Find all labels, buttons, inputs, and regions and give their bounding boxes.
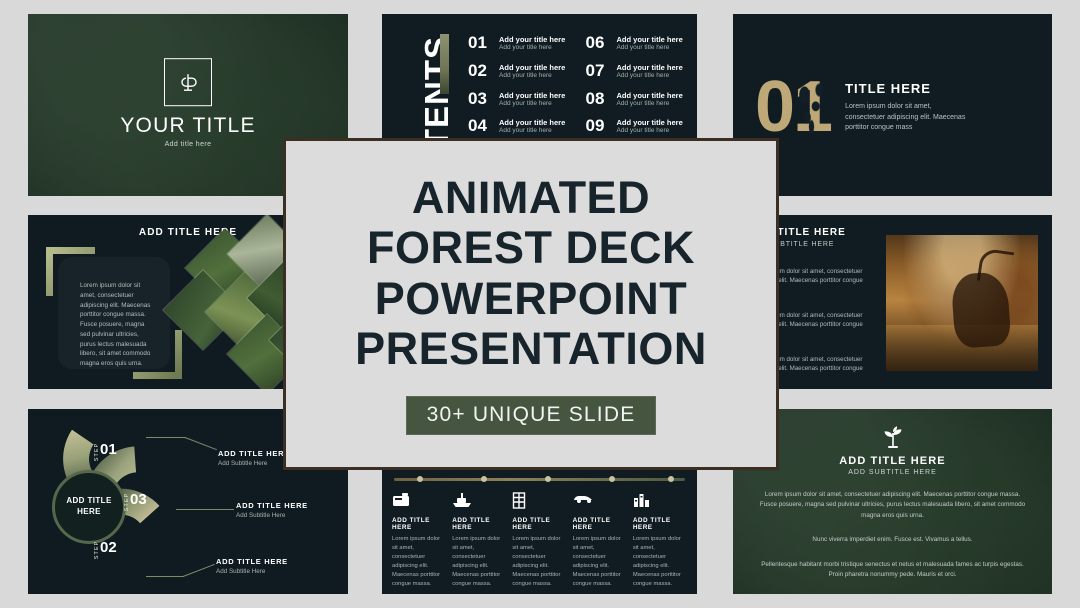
sprout-icon xyxy=(880,425,906,449)
slide-closing[interactable]: ADD TITLE HERE ADD SUBTITLE HERE Lorem i… xyxy=(733,409,1052,594)
monogram-logo-icon xyxy=(164,58,212,106)
deer-photo xyxy=(886,235,1038,371)
slide-body-text: Lorem ipsum dolor sit amet, consectetuer… xyxy=(80,281,156,369)
item-title: Add your title here xyxy=(499,63,565,72)
list-item[interactable]: 02 Add your title here Add your title he… xyxy=(468,62,570,80)
slide-title: ADD TITLE HERE xyxy=(759,455,1026,467)
callout-title: ADD TITLE HERE xyxy=(216,557,288,566)
item-number: 06 xyxy=(586,34,611,51)
step-number: 02 xyxy=(100,539,117,556)
leader-line xyxy=(146,576,184,577)
leader-line xyxy=(185,437,217,450)
center-label: ADD TITLE HERE xyxy=(52,470,126,544)
hero-title: ANIMATED FOREST DECK POWERPOINT PRESENTA… xyxy=(355,173,707,375)
step-callout-1[interactable]: ADD TITLE HERE Add Subtitle Here xyxy=(218,449,290,467)
section-body: Lorem ipsum dolor sit amet, consectetuer… xyxy=(845,102,970,135)
timeline-dot xyxy=(545,476,551,482)
item-number: 03 xyxy=(468,90,493,107)
section-title: TITLE HERE xyxy=(845,81,1036,96)
callout-title: ADD TITLE HERE xyxy=(236,501,308,510)
unique-slide-badge: 30+ UNIQUE SLIDE xyxy=(406,396,657,435)
list-item[interactable]: 09 Add your title here Add your title he… xyxy=(586,117,688,135)
timeline-dot xyxy=(417,476,423,482)
item-title: Add your title here xyxy=(499,118,565,127)
deer-silhouette xyxy=(950,271,1011,349)
leader-line xyxy=(146,437,186,438)
callout-subtitle: Add Subtitle Here xyxy=(216,568,288,575)
item-number: 01 xyxy=(468,34,493,51)
cityscape-icon xyxy=(633,492,687,512)
camera-icon xyxy=(392,492,446,512)
item-subtitle: Add your title here xyxy=(499,100,565,108)
building-icon xyxy=(512,492,566,512)
item-subtitle: Add your title here xyxy=(499,44,565,52)
slide-section-divider[interactable]: 01 TITLE HERE Lorem ipsum dolor sit amet… xyxy=(733,14,1052,196)
hero-title-line-2: FOREST DECK xyxy=(367,222,695,273)
timeline-bar xyxy=(394,478,685,481)
hero-title-line-4: PRESENTATION xyxy=(355,323,707,374)
slide-gallery: YOUR TITLE Add title here NTENTS 01 Add … xyxy=(0,0,1080,608)
list-item[interactable]: 04 Add your title here Add your title he… xyxy=(468,117,570,135)
item-subtitle: Add your title here xyxy=(499,72,565,80)
column-body: Lorem ipsum dolor sit amet, consectetuer… xyxy=(573,535,627,589)
item-number: 02 xyxy=(468,62,493,79)
leader-line xyxy=(176,509,234,510)
slide-icon-columns[interactable]: ADD TITLE HERE Lorem ipsum dolor sit ame… xyxy=(382,470,697,594)
list-item[interactable]: 08 Add your title here Add your title he… xyxy=(586,90,688,108)
hero-title-line-3: POWERPOINT xyxy=(375,273,688,324)
item-subtitle: Add your title here xyxy=(499,127,565,135)
timeline-dot xyxy=(609,476,615,482)
item-number: 04 xyxy=(468,117,493,134)
item-title: Add your title here xyxy=(617,35,683,44)
bracket-text-box: Lorem ipsum dolor sit amet, consectetuer… xyxy=(58,257,170,369)
column-title: ADD TITLE HERE xyxy=(573,517,627,531)
column-title: ADD TITLE HERE xyxy=(633,517,687,531)
item-subtitle: Add your title here xyxy=(617,72,683,80)
item-subtitle: Add your title here xyxy=(617,44,683,52)
accent-bar xyxy=(440,34,449,94)
icon-column[interactable]: ADD TITLE HERE Lorem ipsum dolor sit ame… xyxy=(573,492,627,589)
slide-text-photo[interactable]: ADD TITLE HERE ADD SUBTITLE HERE Lorem i… xyxy=(733,215,1052,389)
step-donut: ADD TITLE HERE STEP 01 STEP 03 STEP 02 xyxy=(42,423,188,581)
callout-subtitle: Add Subtitle Here xyxy=(236,512,308,519)
column-title: ADD TITLE HERE xyxy=(512,517,566,531)
item-subtitle: Add your title here xyxy=(617,100,683,108)
car-icon xyxy=(573,492,627,512)
page-title: YOUR TITLE xyxy=(28,114,348,138)
list-item[interactable]: 06 Add your title here Add your title he… xyxy=(586,34,688,52)
hero-title-line-1: ANIMATED xyxy=(412,172,650,223)
icon-column[interactable]: ADD TITLE HERE Lorem ipsum dolor sit ame… xyxy=(633,492,687,589)
icon-column[interactable]: ADD TITLE HERE Lorem ipsum dolor sit ame… xyxy=(392,492,446,589)
contents-column-left: 01 Add your title here Add your title he… xyxy=(468,34,570,135)
column-body: Lorem ipsum dolor sit amet, consectetuer… xyxy=(452,535,506,589)
column-title: ADD TITLE HERE xyxy=(452,517,506,531)
contents-columns: 01 Add your title here Add your title he… xyxy=(468,34,687,135)
item-title: Add your title here xyxy=(499,35,565,44)
step-callout-3[interactable]: ADD TITLE HERE Add Subtitle Here xyxy=(216,557,288,575)
item-number: 09 xyxy=(586,117,611,134)
column-body: Lorem ipsum dolor sit amet, consectetuer… xyxy=(512,535,566,589)
list-item[interactable]: 07 Add your title here Add your title he… xyxy=(586,62,688,80)
item-title: Add your title here xyxy=(499,91,565,100)
item-title: Add your title here xyxy=(617,118,683,127)
contents-column-right: 06 Add your title here Add your title he… xyxy=(586,34,688,135)
step-number: 03 xyxy=(130,491,147,508)
callout-subtitle: Add Subtitle Here xyxy=(218,460,290,467)
item-title: Add your title here xyxy=(617,91,683,100)
column-body: Lorem ipsum dolor sit amet, consectetuer… xyxy=(633,535,687,589)
step-number: 01 xyxy=(100,441,117,458)
icon-column[interactable]: ADD TITLE HERE Lorem ipsum dolor sit ame… xyxy=(512,492,566,589)
paragraph: Pellentesque habitant morbi tristique se… xyxy=(759,560,1026,581)
list-item[interactable]: 03 Add your title here Add your title he… xyxy=(468,90,570,108)
boat-icon xyxy=(452,492,506,512)
list-item[interactable]: 01 Add your title here Add your title he… xyxy=(468,34,570,52)
center-label-text: ADD TITLE HERE xyxy=(55,496,123,518)
column-body: Lorem ipsum dolor sit amet, consectetuer… xyxy=(392,535,446,589)
paragraph: Lorem ipsum dolor sit amet, consectetuer… xyxy=(759,490,1026,521)
title-block: YOUR TITLE Add title here xyxy=(28,58,348,148)
timeline-dot xyxy=(481,476,487,482)
timeline-dot xyxy=(668,476,674,482)
slide-subtitle: ADD SUBTITLE HERE xyxy=(759,469,1026,476)
section-number: 01 xyxy=(755,78,831,137)
icon-column[interactable]: ADD TITLE HERE Lorem ipsum dolor sit ame… xyxy=(452,492,506,589)
column-title: ADD TITLE HERE xyxy=(392,517,446,531)
item-title: Add your title here xyxy=(617,63,683,72)
item-number: 08 xyxy=(586,90,611,107)
callout-title: ADD TITLE HERE xyxy=(218,449,290,458)
item-subtitle: Add your title here xyxy=(617,127,683,135)
item-number: 07 xyxy=(586,62,611,79)
step-callout-2[interactable]: ADD TITLE HERE Add Subtitle Here xyxy=(236,501,308,519)
paragraph: Nunc viverra imperdiet enim. Fusce est. … xyxy=(759,535,1026,545)
hero-overlay-panel: ANIMATED FOREST DECK POWERPOINT PRESENTA… xyxy=(283,138,779,470)
